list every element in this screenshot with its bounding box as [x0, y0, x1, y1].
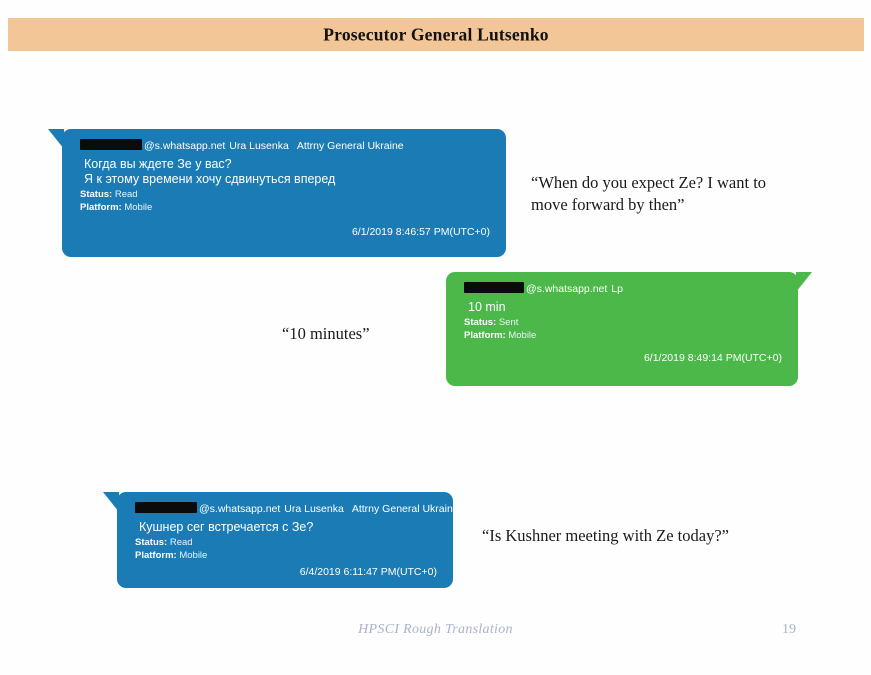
message-body-2: 10 min [468, 300, 782, 315]
message-bubble-incoming-3: @s.whatsapp.netUra LusenkaAttrny General… [117, 492, 453, 588]
message-header-2: @s.whatsapp.netLp [464, 282, 782, 296]
platform-label: Platform: [464, 330, 506, 341]
page-number: 19 [782, 622, 796, 638]
message-timestamp-2: 6/1/2019 8:49:14 PM(UTC+0) [464, 352, 782, 364]
platform-label: Platform: [135, 550, 177, 561]
bubble-tail-icon [796, 272, 812, 292]
message-timestamp-3: 6/4/2019 6:11:47 PM(UTC+0) [135, 566, 437, 578]
footer-note: HPSCI Rough Translation [0, 622, 871, 638]
translation-text-1: “When do you expect Ze? I want to move f… [531, 172, 801, 216]
status-label: Status: [80, 189, 112, 200]
redaction-bar-icon [135, 502, 197, 513]
message-status-2: Status: Sent [464, 317, 782, 330]
translation-text-2: “10 minutes” [282, 323, 462, 345]
page-title: Prosecutor General Lutsenko [8, 24, 864, 45]
message-bubble-outgoing-2: @s.whatsapp.netLp 10 min Status: Sent Pl… [446, 272, 798, 386]
status-label: Status: [464, 317, 496, 328]
status-value: Read [170, 537, 193, 548]
page-title-band: Prosecutor General Lutsenko [8, 18, 864, 51]
message-timestamp-1: 6/1/2019 8:46:57 PM(UTC+0) [80, 226, 490, 238]
message-handle: @s.whatsapp.net [144, 140, 225, 152]
message-role: Attrny General Ukraine [352, 503, 459, 515]
status-value: Sent [499, 317, 519, 328]
message-handle: @s.whatsapp.net [526, 283, 607, 295]
message-header-3: @s.whatsapp.netUra LusenkaAttrny General… [135, 502, 437, 516]
message-body-line: Кушнер сег встречается с Зе? [139, 520, 437, 535]
redaction-bar-icon [464, 282, 524, 293]
platform-value: Mobile [179, 550, 207, 561]
message-bubble-incoming-1: @s.whatsapp.netUra LusenkaAttrny General… [62, 129, 506, 257]
message-owner: Lp [611, 283, 623, 295]
platform-value: Mobile [508, 330, 536, 341]
message-handle: @s.whatsapp.net [199, 503, 280, 515]
message-status-3: Status: Read [135, 537, 437, 550]
message-platform-2: Platform: Mobile [464, 330, 782, 343]
bubble-tail-icon [103, 492, 119, 512]
message-body-1: Когда вы ждете Зе у вас? Я к этому време… [84, 157, 490, 187]
message-body-3: Кушнер сег встречается с Зе? [139, 520, 437, 535]
platform-value: Mobile [124, 202, 152, 213]
message-platform-3: Platform: Mobile [135, 550, 437, 563]
message-platform-1: Platform: Mobile [80, 202, 490, 215]
message-body-line: 10 min [468, 300, 782, 315]
message-body-line: Я к этому времени хочу сдвинуться вперед [84, 172, 490, 187]
translation-text-3: “Is Kushner meeting with Ze today?” [482, 525, 772, 547]
status-label: Status: [135, 537, 167, 548]
message-owner: Ura Lusenka [284, 503, 344, 515]
redaction-bar-icon [80, 139, 142, 150]
message-status-1: Status: Read [80, 189, 490, 202]
message-header-1: @s.whatsapp.netUra LusenkaAttrny General… [80, 139, 490, 153]
platform-label: Platform: [80, 202, 122, 213]
bubble-tail-icon [48, 129, 64, 149]
document-page: Prosecutor General Lutsenko @s.whatsapp.… [0, 0, 871, 675]
message-role: Attrny General Ukraine [297, 140, 404, 152]
status-value: Read [115, 189, 138, 200]
message-owner: Ura Lusenka [229, 140, 289, 152]
message-body-line: Когда вы ждете Зе у вас? [84, 157, 490, 172]
